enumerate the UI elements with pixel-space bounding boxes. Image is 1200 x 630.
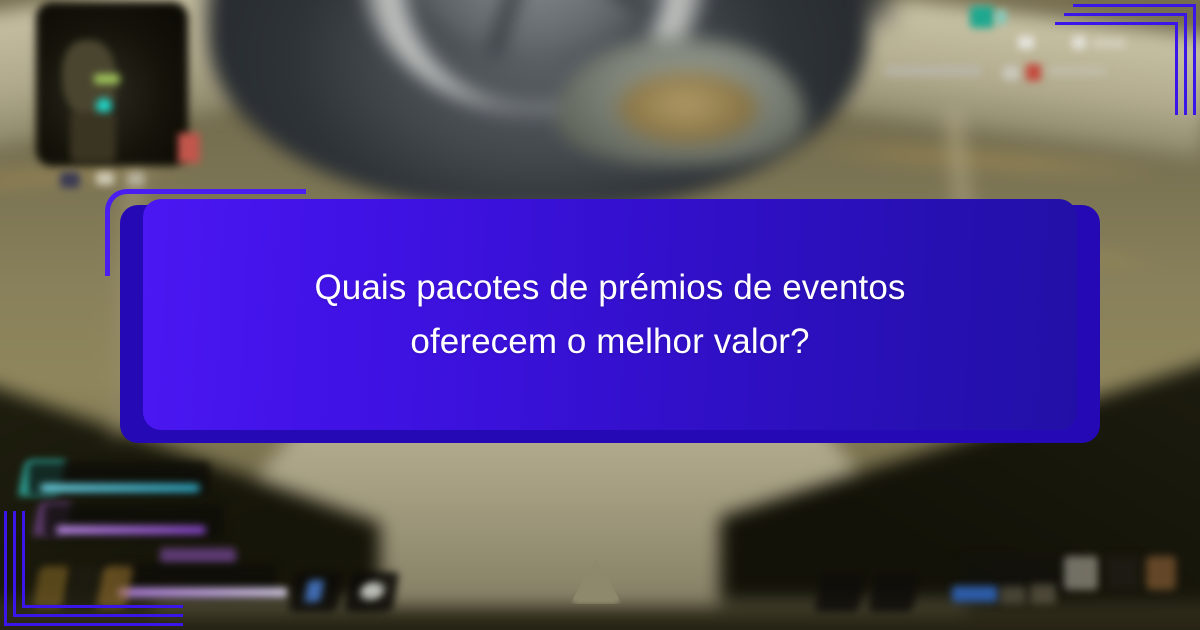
minimap-ally-marker	[94, 74, 120, 84]
shield-bar	[40, 484, 200, 492]
alert-icon	[1026, 64, 1041, 81]
inventory-slot-7[interactable]	[868, 572, 919, 612]
status-chip-icon-1	[1018, 36, 1034, 49]
status-chip-icon-3	[1092, 38, 1126, 48]
team-icon	[304, 580, 324, 602]
objective-flag-icon	[178, 133, 200, 163]
ultimate-tag	[160, 548, 236, 564]
question-card: Quais pacotes de prémios de eventos ofer…	[143, 199, 1077, 430]
inventory-slot-6[interactable]	[814, 572, 865, 612]
team-badge-icon	[952, 586, 998, 602]
minimap-chip-icon-3	[128, 173, 144, 185]
objective-icon-secondary	[996, 10, 1006, 24]
weapon-info-panel	[960, 556, 1080, 590]
minimap-chip-icon-2	[96, 172, 114, 185]
viewport-terrain	[618, 72, 758, 144]
ammo-chip-icon-2	[1030, 584, 1056, 604]
helmet-icon	[359, 582, 386, 600]
scoreboard-pill	[1048, 66, 1106, 76]
minimap-chip-icon	[60, 172, 80, 188]
ability-bar	[56, 526, 206, 534]
minimap-structure	[70, 112, 116, 162]
scoreboard-bar	[885, 66, 981, 76]
inventory-slot-5[interactable]	[344, 572, 399, 612]
status-chip-icon-2	[1072, 36, 1086, 49]
question-text: Quais pacotes de prémios de eventos ofer…	[236, 261, 984, 367]
inventory-slot-4[interactable]	[288, 572, 343, 612]
weapon-slot-icon[interactable]	[1064, 556, 1098, 590]
objective-icon	[970, 6, 994, 28]
scoreboard-square-icon	[1003, 66, 1019, 80]
screenshot-root: Quais pacotes de prémios de eventos ofer…	[0, 0, 1200, 630]
ammo-chip-icon-1	[1000, 586, 1026, 604]
minimap[interactable]	[38, 4, 186, 164]
grenade-slot-icon[interactable]	[1146, 556, 1176, 590]
weapon-slot-icon-2[interactable]	[1106, 556, 1140, 590]
ultimate-bar	[118, 588, 288, 597]
